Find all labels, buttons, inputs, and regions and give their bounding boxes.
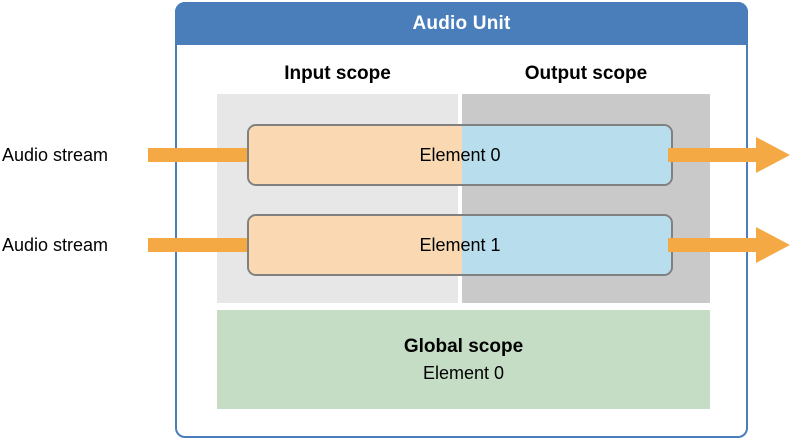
audio-unit-title: Audio Unit [175,2,748,45]
element-box-0: Element 0 [247,124,673,186]
input-scope-label: Input scope [217,62,458,86]
global-scope-box: Global scope Element 0 [217,310,710,409]
audio-stream-arrow-out-0 [668,135,791,175]
global-scope-element-label: Element 0 [423,360,504,386]
audio-stream-arrow-out-1 [668,225,791,265]
audio-stream-arrow-in-1 [148,238,252,252]
audio-stream-label-input-1: Audio stream [2,234,144,256]
audio-stream-label-input-0: Audio stream [2,144,144,166]
element-box-1: Element 1 [247,214,673,276]
audio-stream-arrow-in-0 [148,148,252,162]
output-scope-label: Output scope [462,62,710,86]
element-0-label: Element 0 [249,126,671,184]
global-scope-title: Global scope [404,333,523,360]
element-1-label: Element 1 [249,216,671,274]
